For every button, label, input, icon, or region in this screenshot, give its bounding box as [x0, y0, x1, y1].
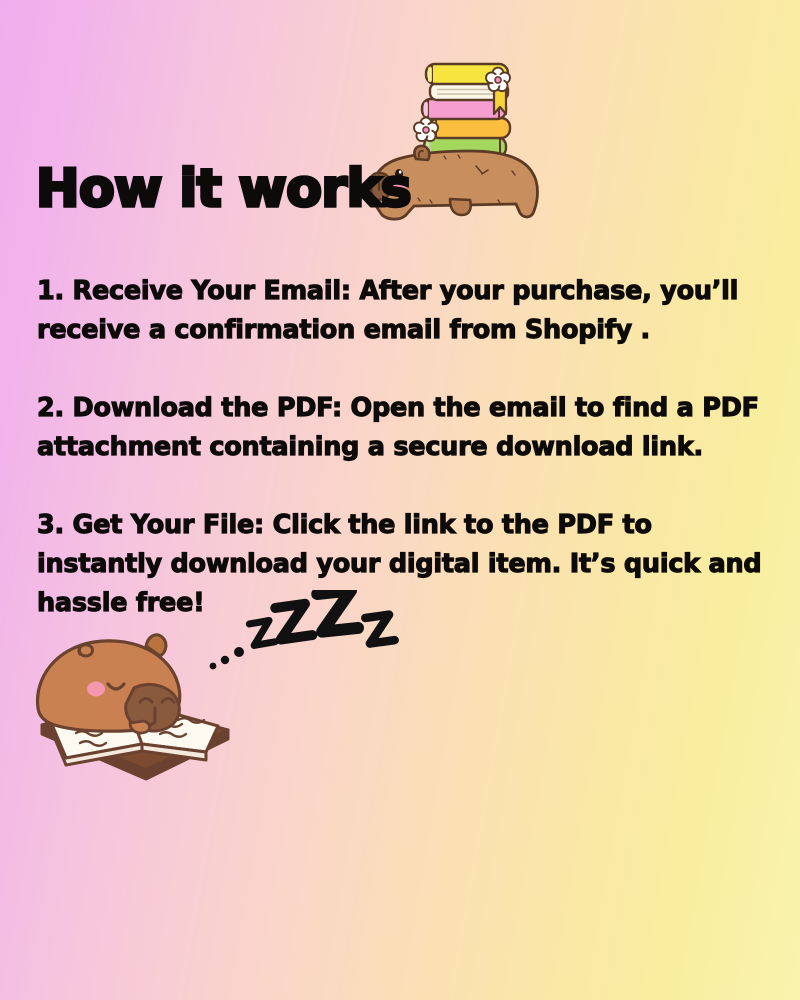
step-item: 2. Download the PDF: Open the email to f…	[37, 389, 767, 467]
sleep-z-trailing	[365, 614, 394, 643]
sleep-z-medium	[275, 603, 312, 639]
steps-list: 1. Receive Your Email: After your purcha…	[37, 272, 767, 623]
sleep-dot	[234, 647, 244, 657]
sleep-zzz	[205, 590, 415, 680]
sleep-z-large	[317, 590, 358, 632]
page-title: How it works	[36, 163, 411, 215]
poster-canvas: How it works 1. Receive Your Email: Afte…	[0, 0, 800, 1000]
orange-book	[430, 118, 510, 138]
capybara-body	[38, 635, 180, 733]
sleep-z-small	[249, 620, 274, 645]
step-item: 1. Receive Your Email: After your purcha…	[37, 272, 767, 350]
sleep-dot	[221, 656, 229, 664]
sleep-dot	[210, 663, 217, 670]
